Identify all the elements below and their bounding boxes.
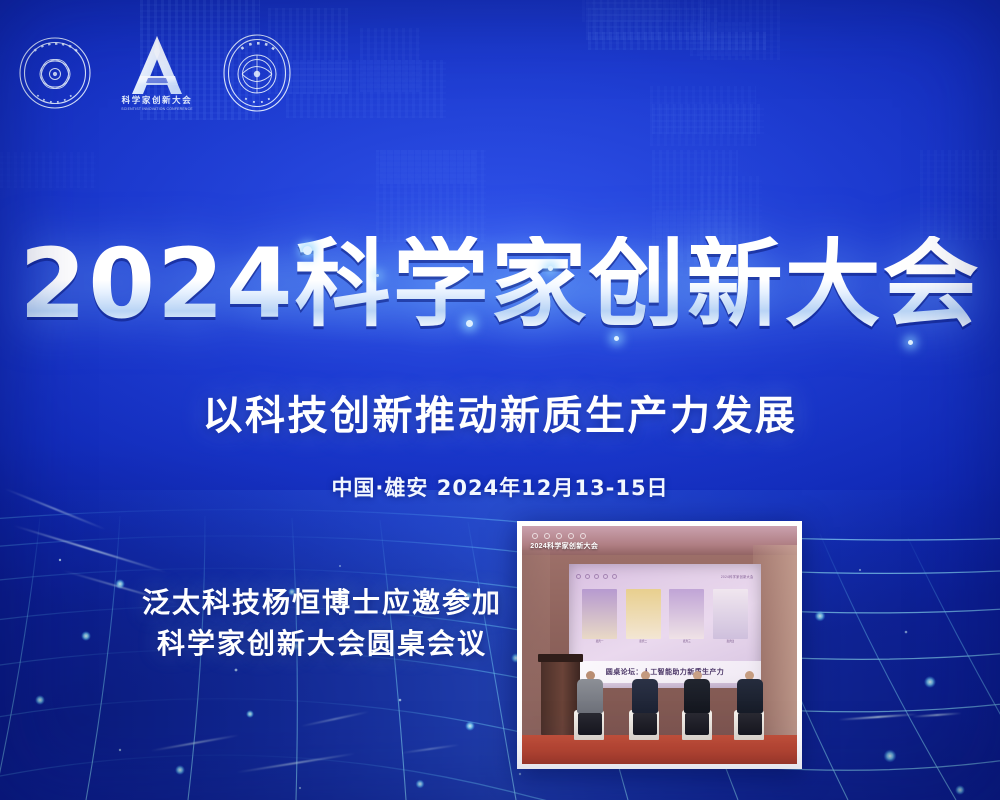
photo-panelist: [577, 671, 603, 735]
poster-canvas: 科学家创新大会 SCIENTIST INNOVATION CONFERENCE: [0, 0, 1000, 800]
association-emblem-icon: [222, 33, 292, 113]
photo-speaker-cards: 嘉宾一 嘉宾二 嘉宾三 嘉宾四: [582, 589, 748, 653]
page-subtitle: 以科技创新推动新质生产力发展: [0, 383, 1000, 441]
photo-panelist: [684, 671, 710, 735]
roundtable-panel-photo: 2024科学家创新大会 嘉宾一 嘉宾二 嘉宾三: [517, 521, 802, 769]
speaker-card: 嘉宾一: [582, 589, 617, 653]
triangle-emblem-en-text: SCIENTIST INNOVATION CONFERENCE: [121, 107, 193, 111]
speaker-card: 嘉宾四: [713, 589, 748, 653]
page-title: 2024科学家创新大会: [0, 236, 1000, 332]
caption-line-1: 泛太科技杨恒博士应邀参加: [142, 586, 502, 619]
speaker-card-name: 嘉宾四: [713, 639, 748, 653]
photo-panelist: [632, 671, 658, 735]
photo-overlay-title: 2024科学家创新大会: [530, 541, 598, 551]
photo-screen-brand: 2024科学家创新大会: [721, 574, 754, 579]
speaker-card: 嘉宾二: [626, 589, 661, 653]
triangle-a-emblem-icon: 科学家创新大会 SCIENTIST INNOVATION CONFERENCE: [118, 32, 196, 114]
triangle-emblem-cn-text: 科学家创新大会: [121, 94, 193, 106]
photo-projection-screen: 2024科学家创新大会 嘉宾一 嘉宾二 嘉宾三: [569, 564, 762, 688]
title-block: 2024科学家创新大会: [0, 236, 1000, 332]
speaker-card-name: 嘉宾一: [582, 639, 617, 653]
photo-panelist: [737, 671, 763, 735]
event-date-location: 中国·雄安 2024年12月13-15日: [0, 472, 1000, 502]
caption-line-2: 科学家创新大会圆桌会议: [122, 624, 522, 665]
chinese-academy-emblem-icon: [18, 36, 92, 110]
speaker-card-name: 嘉宾三: [669, 639, 704, 653]
logo-row: 科学家创新大会 SCIENTIST INNOVATION CONFERENCE: [18, 32, 292, 114]
speaker-card-name: 嘉宾二: [626, 639, 661, 653]
photo-overlay-badge: 2024科学家创新大会: [530, 533, 598, 551]
caption-block: 泛太科技杨恒博士应邀参加 科学家创新大会圆桌会议: [122, 583, 522, 664]
speaker-card: 嘉宾三: [669, 589, 704, 653]
